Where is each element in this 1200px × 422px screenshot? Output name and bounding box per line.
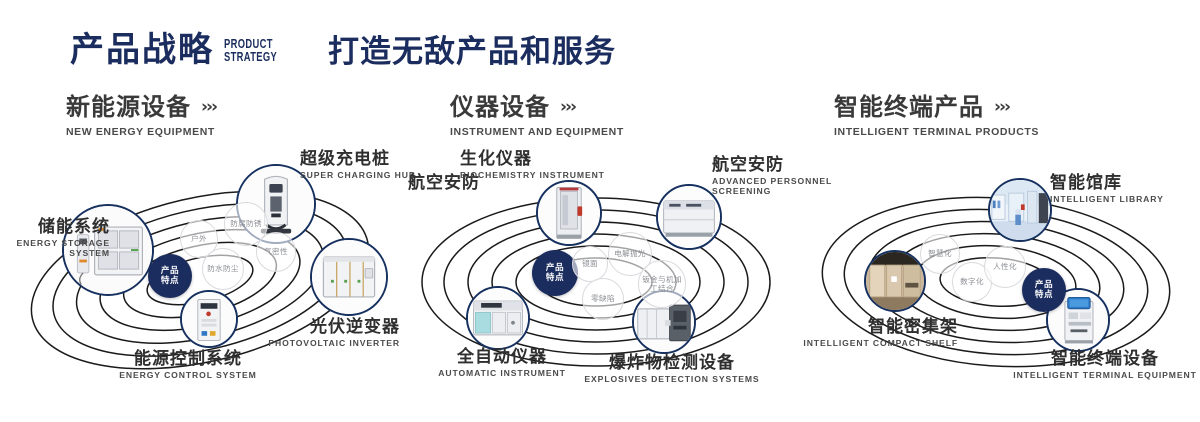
section-heading-cn-wrap: 智能终端产品 ››› bbox=[834, 95, 1039, 119]
feature-bubble-mirror-finish: 镜面 bbox=[572, 246, 608, 282]
product-label-en: BIOCHEMISTRY INSTRUMENT bbox=[460, 171, 610, 181]
product-circle-intelligent-library[interactable] bbox=[988, 178, 1052, 242]
product-label-energy-storage: 储能系统 ENERGY STORAGE SYSTEM bbox=[0, 218, 110, 258]
page-title-en-line2: STRATEGY bbox=[224, 50, 277, 63]
product-label-cn: 能源控制系统 bbox=[88, 350, 288, 369]
product-label-photovoltaic-inverter: 光伏逆变器 PHOTOVOLTAIC INVERTER bbox=[268, 318, 400, 349]
biochemistry-analyzer-photo bbox=[538, 182, 600, 244]
page-title-cn: 产品战略 bbox=[70, 33, 214, 67]
chevron-right-icon: ››› bbox=[201, 99, 216, 116]
product-circle-automatic-instrument[interactable] bbox=[466, 286, 530, 350]
section-heading-en: INSTRUMENT AND EQUIPMENT bbox=[450, 126, 624, 138]
core-bubble-line2: 特点 bbox=[546, 273, 564, 283]
smart-library-photo bbox=[990, 180, 1050, 240]
product-label-en: INTELLIGENT COMPACT SHELF bbox=[800, 339, 958, 349]
product-label-intelligent-terminal-equipment: 智能终端设备 INTELLIGENT TERMINAL EQUIPMENT bbox=[1010, 350, 1200, 381]
core-bubble-line1: 产品 bbox=[161, 266, 179, 276]
product-label-en: INTELLIGENT TERMINAL EQUIPMENT bbox=[1010, 371, 1200, 381]
product-label-intelligent-library: 智能馆库 INTELLIGENT LIBRARY bbox=[1050, 174, 1200, 205]
feature-bubble-smart: 智慧化 bbox=[920, 234, 960, 274]
product-label-cn: 智能密集架 bbox=[800, 318, 958, 337]
product-label-cn: 生化仪器 bbox=[460, 150, 610, 169]
feature-bubble-zero-defect: 零缺陷 bbox=[582, 278, 624, 320]
page-title-en: PRODUCT STRATEGY bbox=[224, 37, 277, 63]
compact-shelf-photo bbox=[866, 252, 924, 310]
product-circle-biochemistry-instrument[interactable] bbox=[536, 180, 602, 246]
feature-bubble-humanized: 人性化 bbox=[984, 246, 1026, 288]
section-heading-cn: 智能终端产品 bbox=[834, 95, 984, 119]
control-cabinet-photo bbox=[182, 292, 236, 346]
section-heading-cn: 新能源设备 bbox=[66, 95, 191, 119]
section-heading-new-energy: 新能源设备 ››› NEW ENERGY EQUIPMENT bbox=[66, 95, 216, 138]
product-label-en: EXPLOSIVES DETECTION SYSTEMS bbox=[582, 375, 762, 385]
product-label-automatic-instrument: 全自动仪器 AUTOMATIC INSTRUMENT bbox=[412, 348, 592, 379]
cluster-instrument-and-equipment: 航空安防 生化仪器 BIOCHEMISTRY INSTRUMENT bbox=[400, 150, 800, 412]
cluster-intelligent-terminal-products: 智能馆库 INTELLIGENT LIBRARY 智能密集架 INTELLIGE… bbox=[800, 150, 1200, 412]
product-label-explosives-detection: 爆炸物检测设备 EXPLOSIVES DETECTION SYSTEMS bbox=[582, 354, 762, 385]
feature-bubble-waterproof: 防水防尘 bbox=[202, 248, 244, 290]
product-label-en: ENERGY STORAGE SYSTEM bbox=[0, 239, 110, 258]
product-label-cn: 智能终端设备 bbox=[1010, 350, 1200, 369]
product-label-en: AUTOMATIC INSTRUMENT bbox=[412, 369, 592, 379]
core-bubble-product-features: 产品 特点 bbox=[1022, 268, 1066, 312]
product-label-cn: 全自动仪器 bbox=[412, 348, 592, 367]
product-label-intelligent-compact-shelf: 智能密集架 INTELLIGENT COMPACT SHELF bbox=[800, 318, 958, 349]
core-bubble-product-features: 产品 特点 bbox=[532, 250, 578, 296]
inverter-cabinet-photo bbox=[312, 240, 386, 314]
product-strategy-infographic: 产品战略 PRODUCT STRATEGY 打造无敌产品和服务 新能源设备 ››… bbox=[0, 0, 1200, 422]
product-circle-energy-control[interactable] bbox=[180, 290, 238, 348]
section-heading-en: NEW ENERGY EQUIPMENT bbox=[66, 126, 216, 138]
chevron-right-icon: ››› bbox=[994, 99, 1009, 116]
core-bubble-product-features: 产品 特点 bbox=[148, 254, 192, 298]
chevron-right-icon: ››› bbox=[560, 99, 575, 116]
automatic-instrument-photo bbox=[468, 288, 528, 348]
core-bubble-line1: 产品 bbox=[1035, 280, 1053, 290]
product-label-en: ENERGY CONTROL SYSTEM bbox=[88, 371, 288, 381]
screening-machine-photo bbox=[658, 186, 720, 248]
section-heading-intelligent: 智能终端产品 ››› INTELLIGENT TERMINAL PRODUCTS bbox=[834, 95, 1039, 138]
feature-bubble-sheetmetal-machining: 钣金与机加工结合 bbox=[638, 260, 686, 308]
product-circle-photovoltaic-inverter[interactable] bbox=[310, 238, 388, 316]
product-circle-intelligent-compact-shelf[interactable] bbox=[864, 250, 926, 312]
product-label-en: PHOTOVOLTAIC INVERTER bbox=[268, 339, 400, 349]
page-header: 产品战略 PRODUCT STRATEGY bbox=[70, 24, 298, 76]
product-label-cn: 爆炸物检测设备 bbox=[582, 354, 762, 373]
core-bubble-line1: 产品 bbox=[546, 263, 564, 273]
core-bubble-line2: 特点 bbox=[1035, 290, 1053, 300]
product-label-biochemistry-instrument: 生化仪器 BIOCHEMISTRY INSTRUMENT bbox=[460, 150, 610, 181]
product-label-cn: 储能系统 bbox=[0, 218, 110, 237]
section-heading-cn-wrap: 仪器设备 ››› bbox=[450, 95, 624, 119]
section-heading-instrument: 仪器设备 ››› INSTRUMENT AND EQUIPMENT bbox=[450, 95, 624, 138]
core-bubble-line2: 特点 bbox=[161, 276, 179, 286]
product-label-energy-control: 能源控制系统 ENERGY CONTROL SYSTEM bbox=[88, 350, 288, 381]
product-label-cn: 智能馆库 bbox=[1050, 174, 1200, 193]
product-label-cn: 光伏逆变器 bbox=[268, 318, 400, 337]
page-headline: 打造无敌产品和服务 bbox=[328, 26, 616, 71]
product-label-en: INTELLIGENT LIBRARY bbox=[1050, 195, 1200, 205]
cluster-new-energy-equipment: 储能系统 ENERGY STORAGE SYSTEM 超级充电桩 SUPER C… bbox=[0, 150, 400, 412]
feature-bubble-airtight: 气密性 bbox=[256, 232, 296, 272]
section-heading-cn: 仪器设备 bbox=[450, 95, 550, 119]
section-heading-cn-wrap: 新能源设备 ››› bbox=[66, 95, 216, 119]
section-heading-en: INTELLIGENT TERMINAL PRODUCTS bbox=[834, 126, 1039, 138]
